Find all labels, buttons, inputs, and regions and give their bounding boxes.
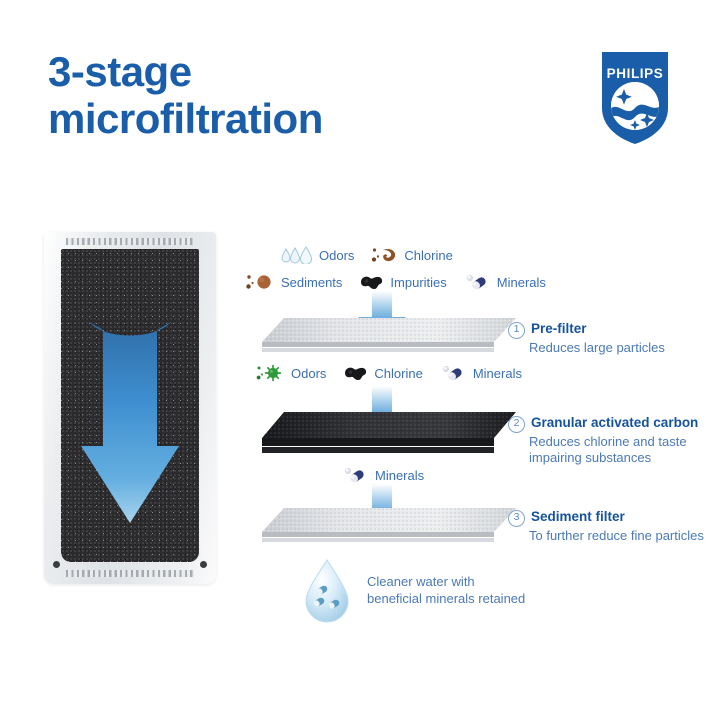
- pre-filter-slab: [258, 314, 520, 363]
- stage-description: Reduces large particles: [529, 340, 713, 356]
- chlorine-blob-icon: [343, 364, 369, 382]
- cartridge-screw-right: [200, 561, 207, 568]
- stage-title: Granular activated carbon: [531, 414, 698, 431]
- page-title-line-1: 3-stage: [48, 48, 192, 95]
- tag-label: Chlorine: [404, 248, 452, 263]
- philips-logo: PHILIPS: [598, 50, 672, 146]
- stage-description: To further reduce fine particles: [529, 528, 720, 544]
- cartridge-vent-bottom: [66, 570, 194, 577]
- stage-2-inlet-tags: Odors Chlorine: [256, 364, 522, 382]
- filtration-diagram: Odors Chlorine: [236, 236, 706, 656]
- result-block: Cleaner water with beneficial minerals r…: [298, 556, 525, 624]
- minerals-capsule-icon: [464, 273, 492, 291]
- sediment-filter-slab: [258, 504, 520, 553]
- tag-label: Minerals: [473, 366, 522, 381]
- minerals-capsule-icon: [440, 364, 468, 382]
- tag-odors: Odors: [256, 364, 326, 382]
- chlorine-blob-icon: [371, 246, 399, 264]
- tag-minerals: Minerals: [440, 364, 522, 382]
- stage-title: Pre-filter: [531, 320, 587, 337]
- stage-number-badge: 1: [508, 322, 525, 339]
- impurities-blob-icon: [359, 273, 385, 291]
- philips-shield-icon: [598, 50, 672, 146]
- stage-description: Reduces chlorine and taste impairing sub…: [529, 434, 713, 467]
- page-title-line-2: microfiltration: [48, 95, 528, 142]
- tag-label: Minerals: [497, 275, 546, 290]
- odor-droplets-icon: [280, 246, 314, 264]
- inlet-tag-row-2: Sediments Impurities: [246, 273, 546, 291]
- tag-label: Impurities: [390, 275, 446, 290]
- tag-sediments: Sediments: [246, 273, 342, 291]
- water-droplet-minerals-icon: [298, 556, 356, 624]
- tag-label: Odors: [319, 248, 354, 263]
- stage-number-badge: 2: [508, 416, 525, 433]
- sediment-particles-icon: [246, 273, 276, 291]
- tag-label: Chlorine: [374, 366, 422, 381]
- stage-2-text: 2 Granular activated carbon Reduces chlo…: [508, 414, 713, 467]
- carbon-slab: [258, 408, 520, 465]
- tag-chlorine: Chlorine: [343, 364, 422, 382]
- result-line-1: Cleaner water with: [367, 573, 525, 590]
- tag-minerals: Minerals: [342, 466, 424, 484]
- tag-label: Odors: [291, 366, 326, 381]
- tag-impurities: Impurities: [359, 273, 446, 291]
- tag-minerals: Minerals: [464, 273, 546, 291]
- odor-virus-icon: [256, 364, 286, 382]
- cartridge-vent-top: [66, 238, 194, 245]
- water-filter-cartridge: [44, 232, 216, 584]
- infographic-canvas: 3-stage microfiltration PHILIPS: [0, 0, 720, 720]
- stage-number-badge: 3: [508, 510, 525, 527]
- page-title: 3-stage microfiltration: [48, 48, 528, 142]
- tag-odors: Odors: [280, 246, 354, 264]
- tag-label: Minerals: [375, 468, 424, 483]
- philips-wordmark: PHILIPS: [598, 66, 672, 81]
- tag-label: Sediments: [281, 275, 342, 290]
- stage-1-text: 1 Pre-filter Reduces large particles: [508, 320, 713, 356]
- cartridge-flow-arrow: [75, 318, 185, 543]
- stage-3-text: 3 Sediment filter To further reduce fine…: [508, 508, 720, 544]
- tag-chlorine: Chlorine: [371, 246, 452, 264]
- stage-3-inlet-tags: Minerals: [342, 466, 424, 484]
- inlet-tag-row-1: Odors Chlorine: [280, 246, 453, 264]
- result-line-2: beneficial minerals retained: [367, 590, 525, 607]
- cartridge-screw-left: [53, 561, 60, 568]
- minerals-capsule-icon: [342, 466, 370, 484]
- stage-title: Sediment filter: [531, 508, 625, 525]
